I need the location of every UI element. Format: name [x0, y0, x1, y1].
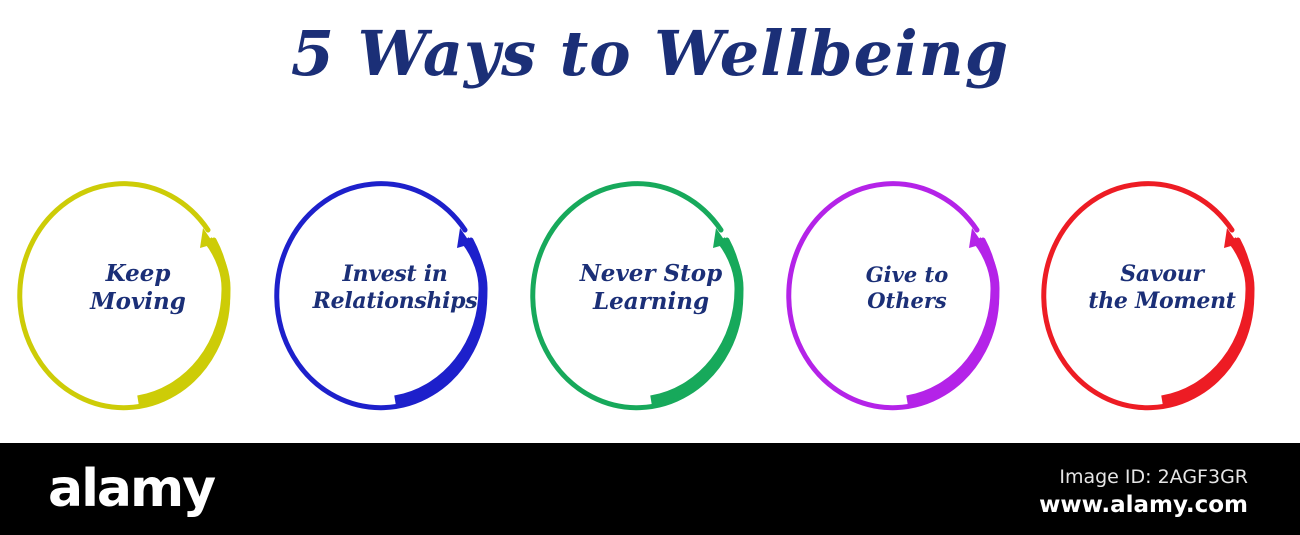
circular-arrow-icon — [791, 168, 1023, 408]
wellbeing-item-keep-moving[interactable]: Keep Moving — [22, 168, 254, 408]
alamy-logo: alamy — [48, 463, 214, 515]
wellbeing-infographic: 5 Ways to Wellbeing Keep Moving Invest i… — [0, 0, 1300, 535]
wellbeing-item-invest-in-relationships[interactable]: Invest in Relationships — [279, 168, 511, 408]
alamy-url-label: www.alamy.com — [1039, 491, 1248, 521]
ring-arc-thin — [277, 184, 485, 408]
circular-arrow-icon — [22, 168, 254, 408]
circular-arrow-icon — [535, 168, 767, 408]
ring-arc-thin — [20, 184, 228, 408]
wellbeing-item-never-stop-learning[interactable]: Never Stop Learning — [535, 168, 767, 408]
ring-arc-thick — [395, 240, 483, 400]
image-id-label: Image ID: 2AGF3GR — [1039, 465, 1248, 491]
alamy-watermark-bar: alamy Image ID: 2AGF3GR www.alamy.com — [0, 443, 1300, 535]
ring-arc-thick — [907, 240, 995, 400]
circular-arrow-icon — [279, 168, 511, 408]
ring-arc-thick — [1162, 240, 1250, 400]
ring-arc-thin — [533, 184, 741, 408]
page-title: 5 Ways to Wellbeing — [0, 18, 1300, 89]
circular-arrow-icon — [1046, 168, 1278, 408]
ring-arc-thin — [1044, 184, 1252, 408]
ring-arc-thin — [789, 184, 997, 408]
wellbeing-item-savour-the-moment[interactable]: Savour the Moment — [1046, 168, 1278, 408]
watermark-meta: Image ID: 2AGF3GR www.alamy.com — [1039, 465, 1248, 521]
wellbeing-item-give-to-others[interactable]: Give to Others — [791, 168, 1023, 408]
ring-arc-thick — [651, 240, 739, 400]
ring-arc-thick — [138, 240, 226, 400]
circle-row: Keep Moving Invest in Relationships — [0, 168, 1300, 410]
